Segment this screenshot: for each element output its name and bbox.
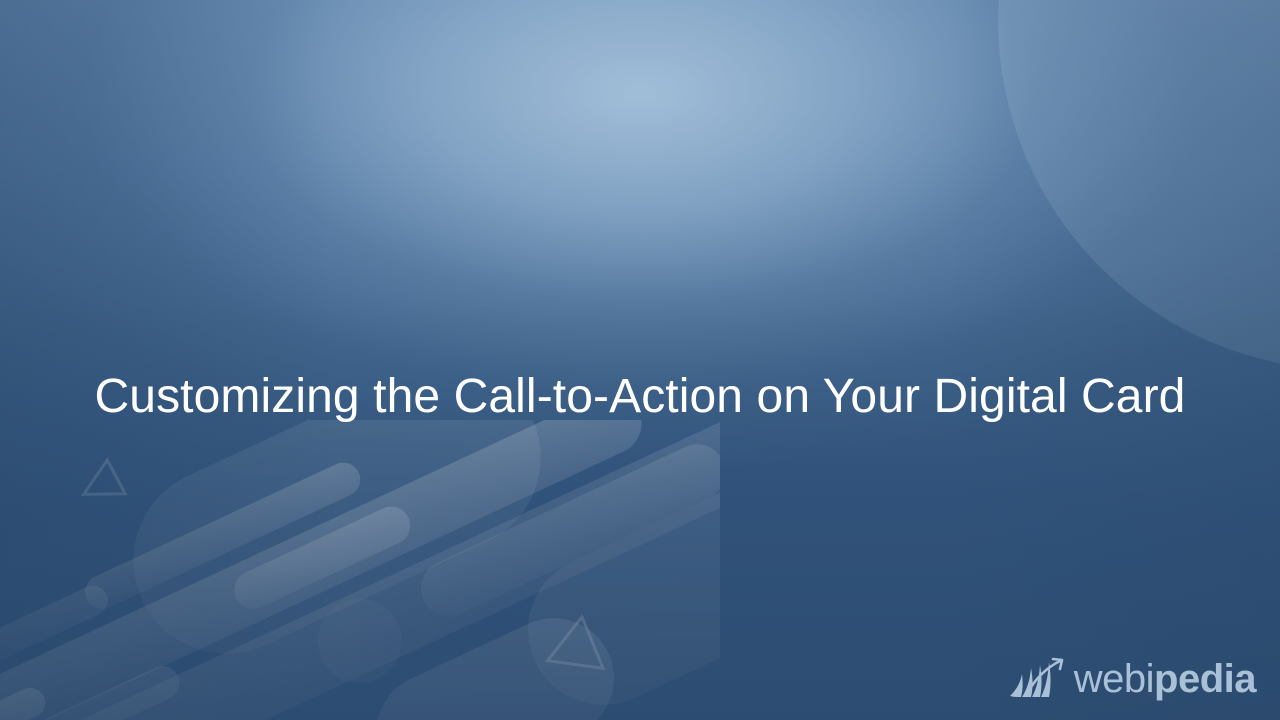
slide-canvas: Customizing the Call-to-Action on Your D…: [0, 0, 1280, 720]
wordmark-light-part: webi: [1074, 657, 1154, 701]
slide-title-container: Customizing the Call-to-Action on Your D…: [0, 336, 1280, 458]
wordmark-bold-part: pedia: [1154, 657, 1256, 701]
webipedia-logo: webipedia: [1008, 650, 1256, 708]
slide-title: Customizing the Call-to-Action on Your D…: [95, 368, 1186, 426]
webipedia-wordmark: webipedia: [1074, 659, 1256, 699]
webipedia-mark-icon: [1008, 656, 1070, 702]
